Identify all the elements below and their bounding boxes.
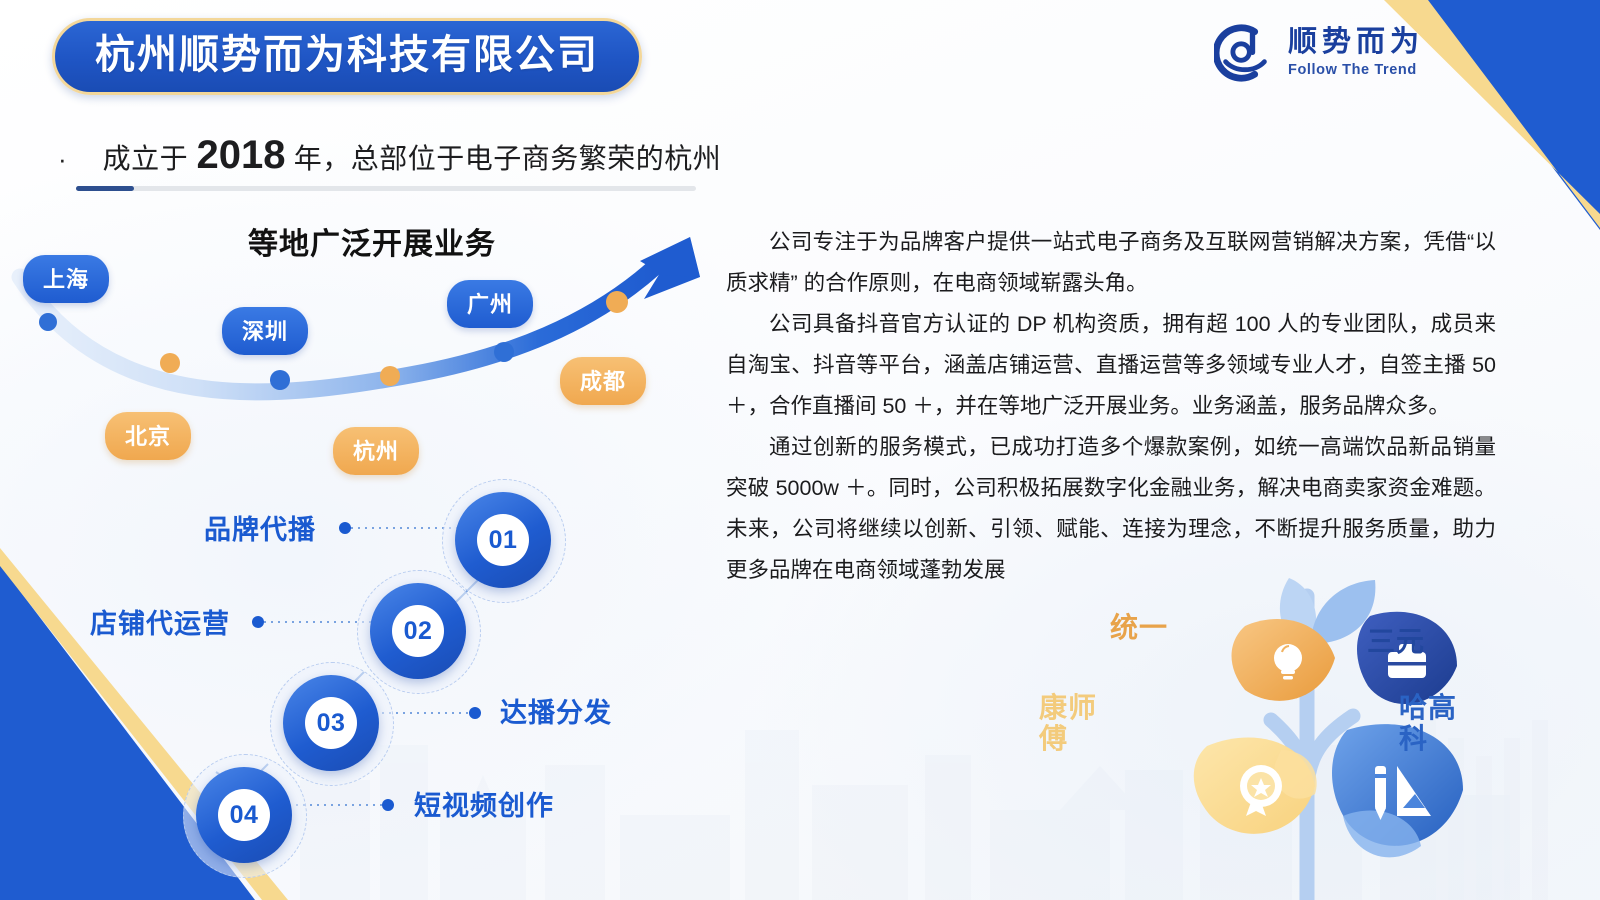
brand-label-sanyuan[interactable]: 三元: [1367, 626, 1425, 657]
subtitle-underline: [76, 186, 696, 191]
step-label-01[interactable]: 品牌代播: [204, 508, 316, 547]
description-paragraph-1: 公司专注于为品牌客户提供一站式电子商务及互联网营销解决方案，凭借“以质求精” 的…: [726, 222, 1496, 304]
subtitle-text: 成立于 2018 年，总部位于电子商务繁荣的杭州: [103, 133, 722, 178]
brand-label-kangshifu[interactable]: 康师 傅: [1039, 692, 1097, 755]
city-badge-chengdu[interactable]: 成都: [560, 357, 646, 405]
city-badge-hangzhou[interactable]: 杭州: [333, 427, 419, 475]
city-badge-beijing[interactable]: 北京: [105, 412, 191, 460]
description-paragraph-2: 公司具备抖音官方认证的 DP 机构资质，拥有超 100 人的专业团队，成员来自淘…: [726, 304, 1496, 427]
step-number-bubble: 01: [477, 514, 529, 566]
step-number-bubble: 04: [218, 789, 270, 841]
step-number-03: 03: [317, 709, 346, 738]
slide-root: 杭州顺势而为科技有限公司 顺势而为 Follow The Trend · 成立于…: [0, 0, 1600, 900]
step-number-01: 01: [489, 526, 518, 555]
city-badge-guangzhou[interactable]: 广州: [447, 280, 533, 328]
growth-curve-region: 上海 深圳 广州 北京 杭州 成都: [0, 215, 740, 505]
brand-label-tongyi[interactable]: 统一: [1110, 612, 1168, 643]
logo-english-tagline: Follow The Trend: [1288, 63, 1424, 78]
step-node-02[interactable]: 02: [370, 583, 466, 679]
founding-year: 2018: [196, 133, 285, 177]
subtitle-prefix: 成立于: [103, 143, 197, 174]
company-title-pill: 杭州顺势而为科技有限公司: [52, 18, 642, 95]
step-label-03[interactable]: 达播分发: [500, 691, 612, 730]
logo-chinese-name: 顺势而为: [1288, 28, 1424, 57]
logo-circle-icon: [1214, 22, 1276, 84]
city-badge-shanghai[interactable]: 上海: [23, 255, 109, 303]
step-node-04[interactable]: 04: [196, 767, 292, 863]
brand-tree-graphic: [1085, 540, 1545, 900]
step-number-bubble: 03: [305, 697, 357, 749]
company-description: 公司专注于为品牌客户提供一站式电子商务及互联网营销解决方案，凭借“以质求精” 的…: [726, 222, 1496, 591]
subtitle-suffix: 年，总部位于电子商务繁荣的杭州: [285, 143, 721, 174]
step-number-bubble: 02: [392, 605, 444, 657]
brand-label-hagaoke[interactable]: 哈高 科: [1399, 692, 1457, 755]
step-number-02: 02: [404, 617, 433, 646]
bullet-icon: ·: [58, 146, 67, 172]
step-label-02[interactable]: 店铺代运营: [90, 602, 230, 641]
step-label-04[interactable]: 短视频创作: [414, 784, 554, 823]
page-title: 杭州顺势而为科技有限公司: [95, 34, 599, 76]
step-node-01[interactable]: 01: [455, 492, 551, 588]
subtitle-line: · 成立于 2018 年，总部位于电子商务繁荣的杭州: [58, 133, 721, 178]
service-steps-region: 品牌代播 店铺代运营 达播分发 短视频创作 01 02 03 04: [0, 470, 700, 890]
step-node-03[interactable]: 03: [283, 675, 379, 771]
step-number-04: 04: [230, 801, 259, 830]
brand-logo: 顺势而为 Follow The Trend: [1214, 22, 1424, 84]
city-badge-shenzhen[interactable]: 深圳: [222, 307, 308, 355]
subtitle-underline-accent: [76, 186, 134, 191]
brand-tree-region: 统一 三元 康师 傅 哈高 科: [1085, 540, 1545, 900]
